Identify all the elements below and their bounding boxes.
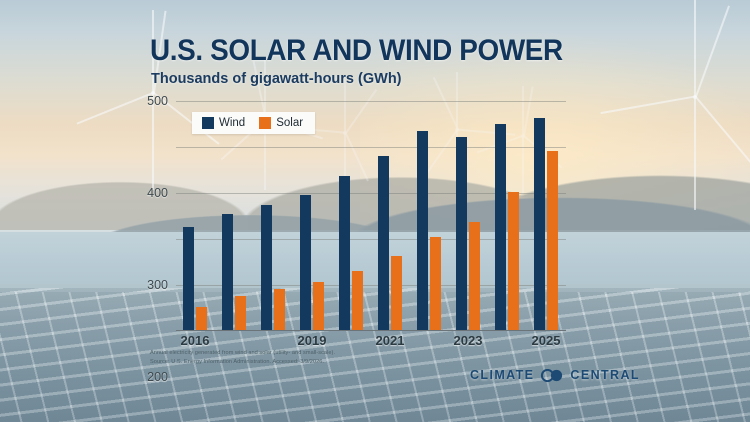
- y-axis-tick-label: 200: [147, 370, 168, 384]
- bar-solar-2021[interactable]: [391, 256, 402, 331]
- bar-solar-2022[interactable]: [430, 237, 441, 331]
- bar-wind-2018[interactable]: [261, 205, 272, 331]
- two-interlocking-circles-icon: [539, 369, 565, 382]
- bar-group: 2016: [183, 101, 214, 331]
- legend-label-wind: Wind: [219, 117, 245, 129]
- footnote-line-2: Source: U.S. Energy Information Administ…: [150, 358, 335, 367]
- page-title: U.S. SOLAR AND WIND POWER: [150, 34, 563, 68]
- bar-group: [261, 101, 292, 331]
- bar-group: [222, 101, 253, 331]
- legend-swatch-wind-icon: [202, 117, 214, 129]
- x-axis-tick-label: 2023: [454, 333, 483, 348]
- bar-group: [339, 101, 370, 331]
- logo-word-central: CENTRAL: [570, 368, 640, 382]
- y-axis-tick-label: 500: [147, 94, 168, 108]
- bar-group: 2021: [378, 101, 409, 331]
- x-axis-tick-label: 2021: [376, 333, 405, 348]
- footnote: Annual electricity generated from wind a…: [150, 349, 335, 366]
- bar-wind-2023[interactable]: [456, 137, 467, 331]
- climate-central-logo: CLIMATE CENTRAL: [470, 368, 640, 382]
- bar-solar-2023[interactable]: [469, 222, 480, 331]
- logo-word-climate: CLIMATE: [470, 368, 534, 382]
- bar-wind-2017[interactable]: [222, 214, 233, 331]
- bar-wind-2025[interactable]: [534, 118, 545, 331]
- legend-item-solar[interactable]: Solar: [259, 117, 303, 129]
- legend-swatch-solar-icon: [259, 117, 271, 129]
- chart-overlay: U.S. SOLAR AND WIND POWER Thousands of g…: [0, 0, 750, 422]
- bar-group: 2023: [456, 101, 487, 331]
- bar-solar-2020[interactable]: [352, 271, 363, 331]
- gridline: 0: [176, 331, 566, 332]
- bar-wind-2019[interactable]: [300, 195, 311, 331]
- chart-subtitle: Thousands of gigawatt-hours (GWh): [151, 71, 402, 87]
- bar-solar-2018[interactable]: [274, 289, 285, 331]
- legend-label-solar: Solar: [276, 117, 303, 129]
- bar-wind-2020[interactable]: [339, 176, 350, 331]
- x-axis-line: [176, 330, 566, 332]
- bar-group: [417, 101, 448, 331]
- bar-group: [495, 101, 526, 331]
- bar-group: 2019: [300, 101, 331, 331]
- x-axis-tick-label: 2016: [181, 333, 210, 348]
- bar-solar-2017[interactable]: [235, 296, 246, 331]
- bar-wind-2021[interactable]: [378, 156, 389, 331]
- bar-group: 2025: [534, 101, 565, 331]
- bar-solar-2019[interactable]: [313, 282, 324, 331]
- bar-wind-2022[interactable]: [417, 131, 428, 331]
- bar-solar-2016[interactable]: [196, 307, 207, 331]
- bar-solar-2025[interactable]: [547, 151, 558, 331]
- bar-solar-2024[interactable]: [508, 192, 519, 331]
- bar-wind-2016[interactable]: [183, 227, 194, 331]
- legend-item-wind[interactable]: Wind: [202, 117, 245, 129]
- y-axis-tick-label: 400: [147, 186, 168, 200]
- x-axis-tick-label: 2025: [532, 333, 561, 348]
- bar-wind-2024[interactable]: [495, 124, 506, 331]
- chart-legend: Wind Solar: [192, 112, 315, 134]
- footnote-line-1: Annual electricity generated from wind a…: [150, 349, 335, 358]
- y-axis-tick-label: 300: [147, 278, 168, 292]
- bar-chart-plot-area: 0100200300400500 20162019202120232025: [176, 101, 566, 331]
- x-axis-tick-label: 2019: [298, 333, 327, 348]
